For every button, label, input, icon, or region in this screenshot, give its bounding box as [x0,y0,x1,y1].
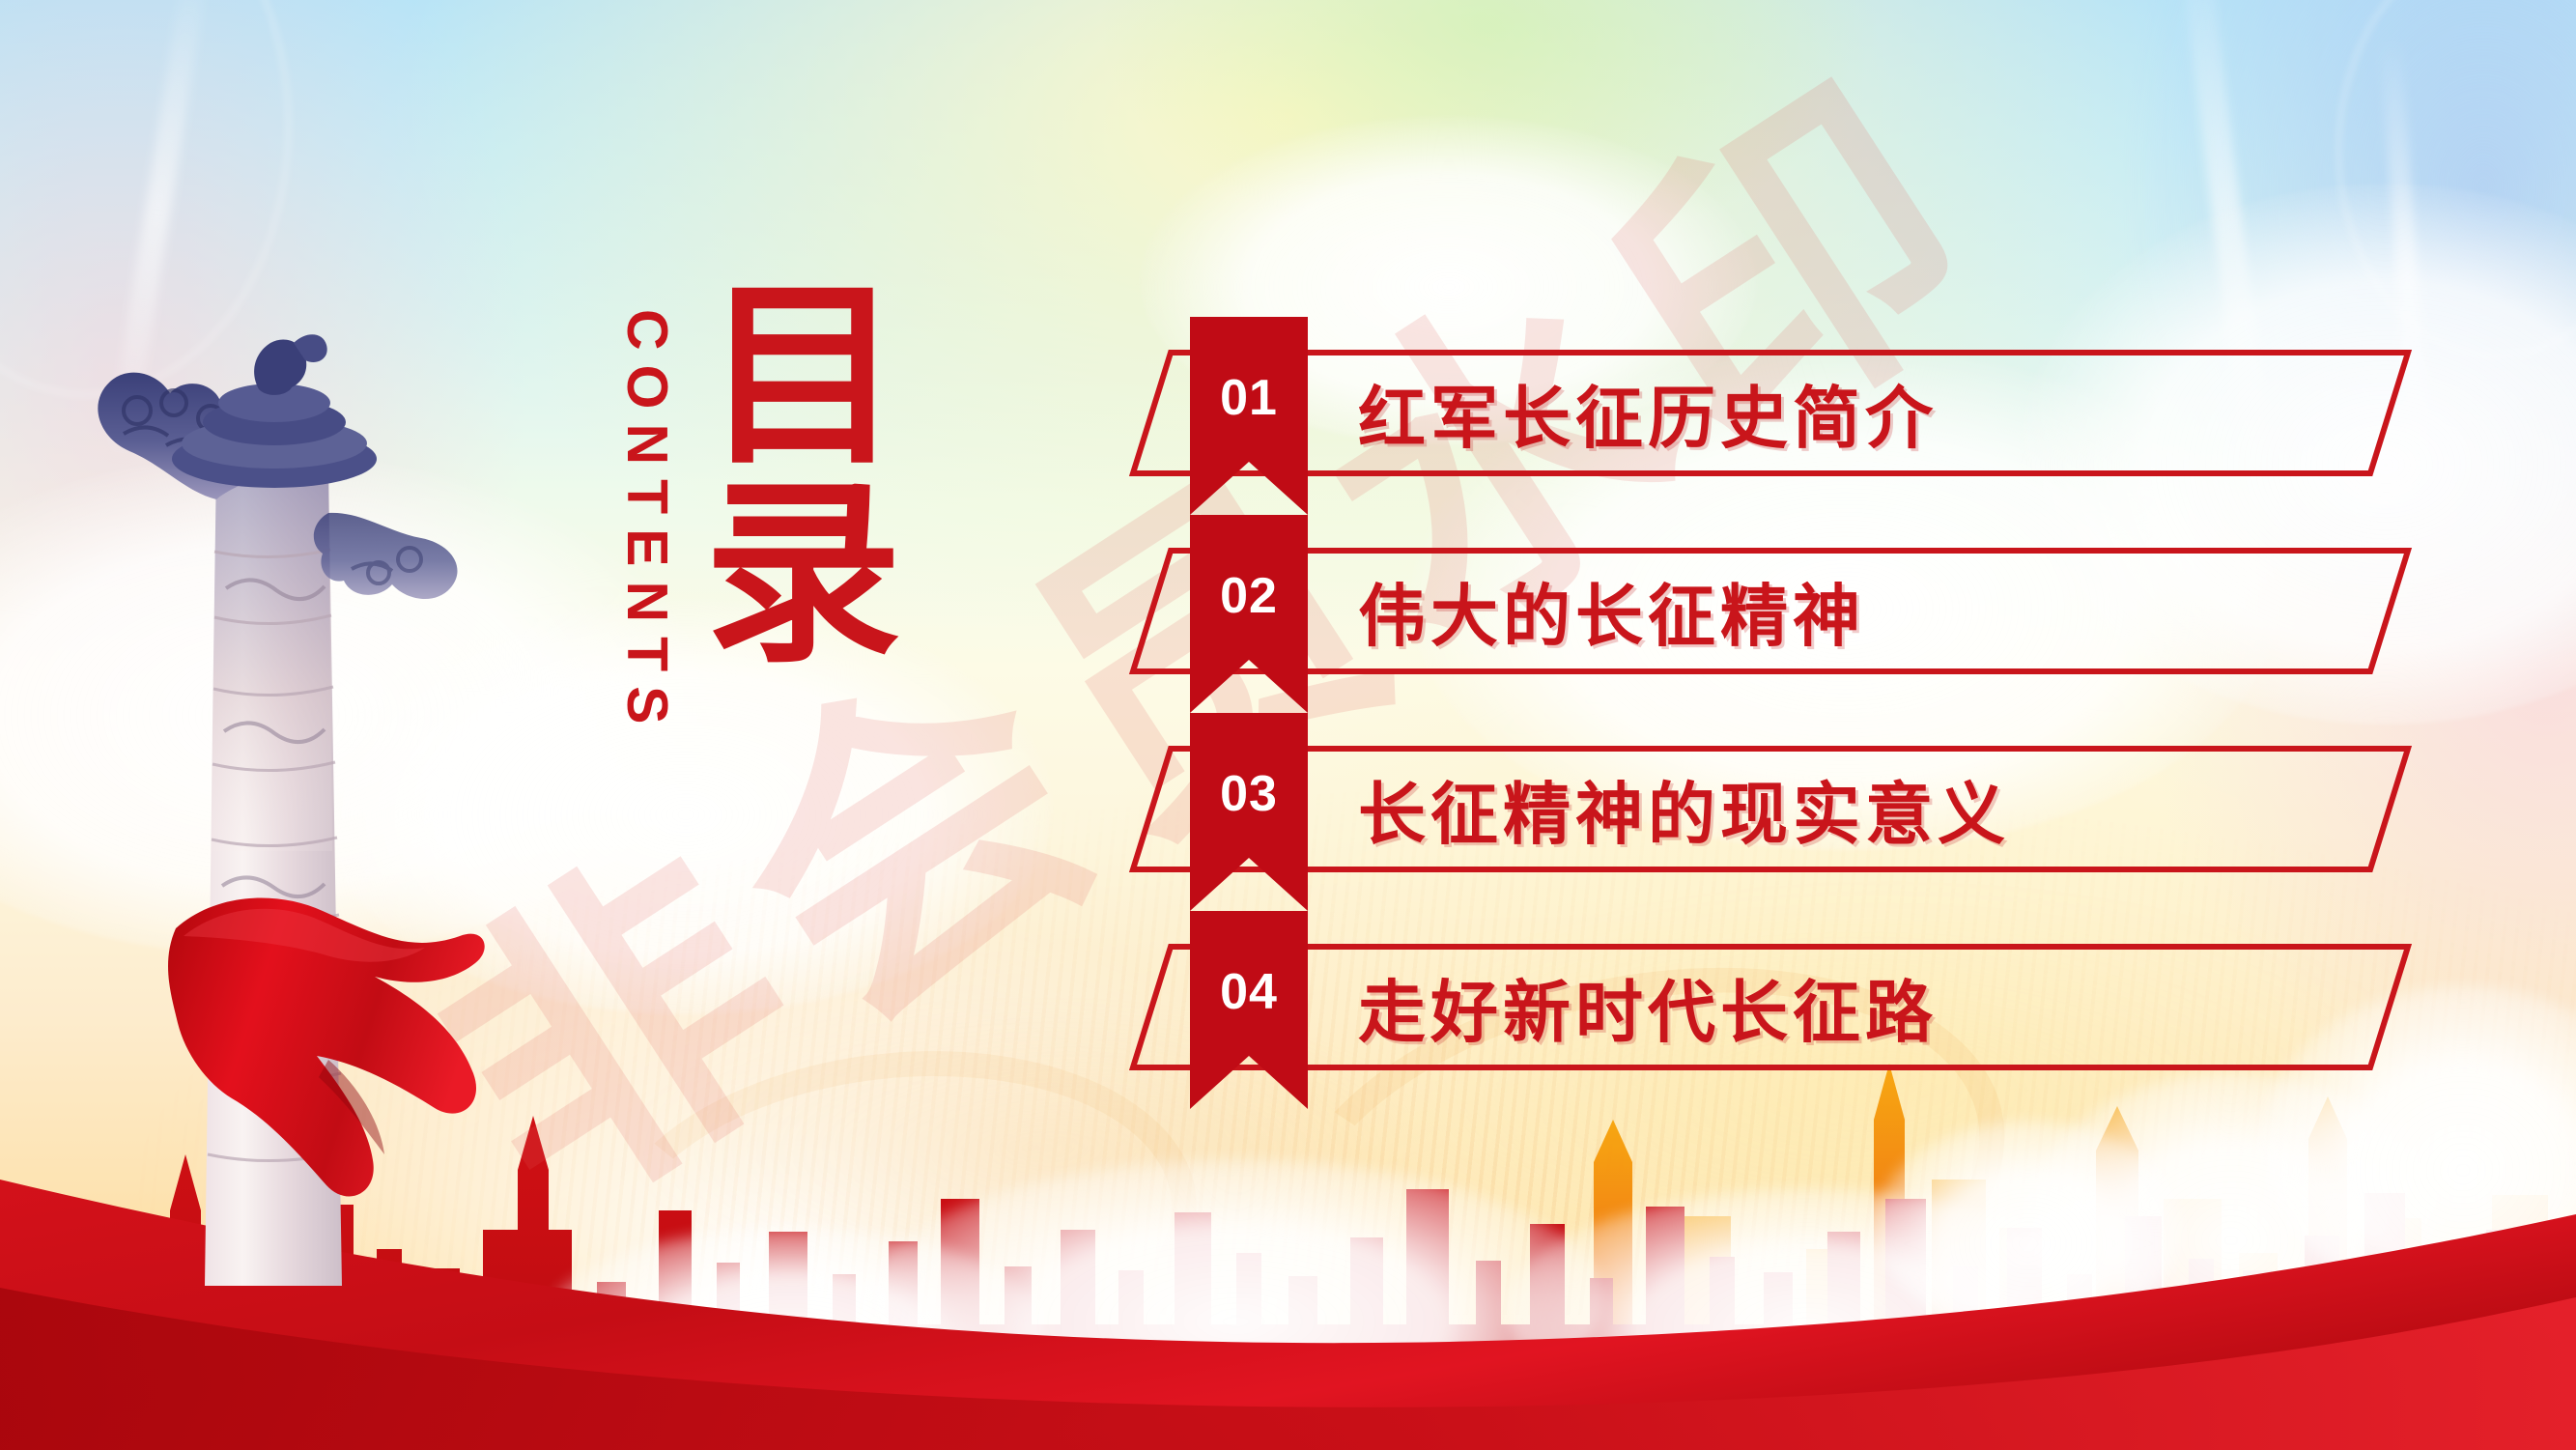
slide-canvas: 非会员水印 CONTENTS 目录 01 红军长征历史简介 [0,0,2576,1450]
contents-label-cn: 目录 [689,270,881,667]
list-item-number: 03 [1190,713,1308,875]
list-item[interactable]: 02 伟大的长征精神 [1128,515,2422,713]
list-item-number: 01 [1190,317,1308,479]
list-item-number: 04 [1190,911,1308,1073]
list-item[interactable]: 01 红军长征历史简介 [1128,317,2422,515]
contents-list: 01 红军长征历史简介 02 伟大的长征精神 [1128,317,2422,1109]
list-item[interactable]: 04 走好新时代长征路 [1128,911,2422,1109]
huabiao-ornamental-column [70,310,485,1286]
list-item-label: 长征精神的现实意义 [1358,744,2010,874]
list-item-label: 红军长征历史简介 [1358,348,1938,478]
contents-label-en: CONTENTS [618,309,675,739]
page-title: CONTENTS 目录 [618,270,881,739]
list-item[interactable]: 03 长征精神的现实意义 [1128,713,2422,911]
list-item-number: 02 [1190,515,1308,677]
list-item-label: 伟大的长征精神 [1358,546,1865,676]
list-item-label: 走好新时代长征路 [1358,942,1938,1072]
